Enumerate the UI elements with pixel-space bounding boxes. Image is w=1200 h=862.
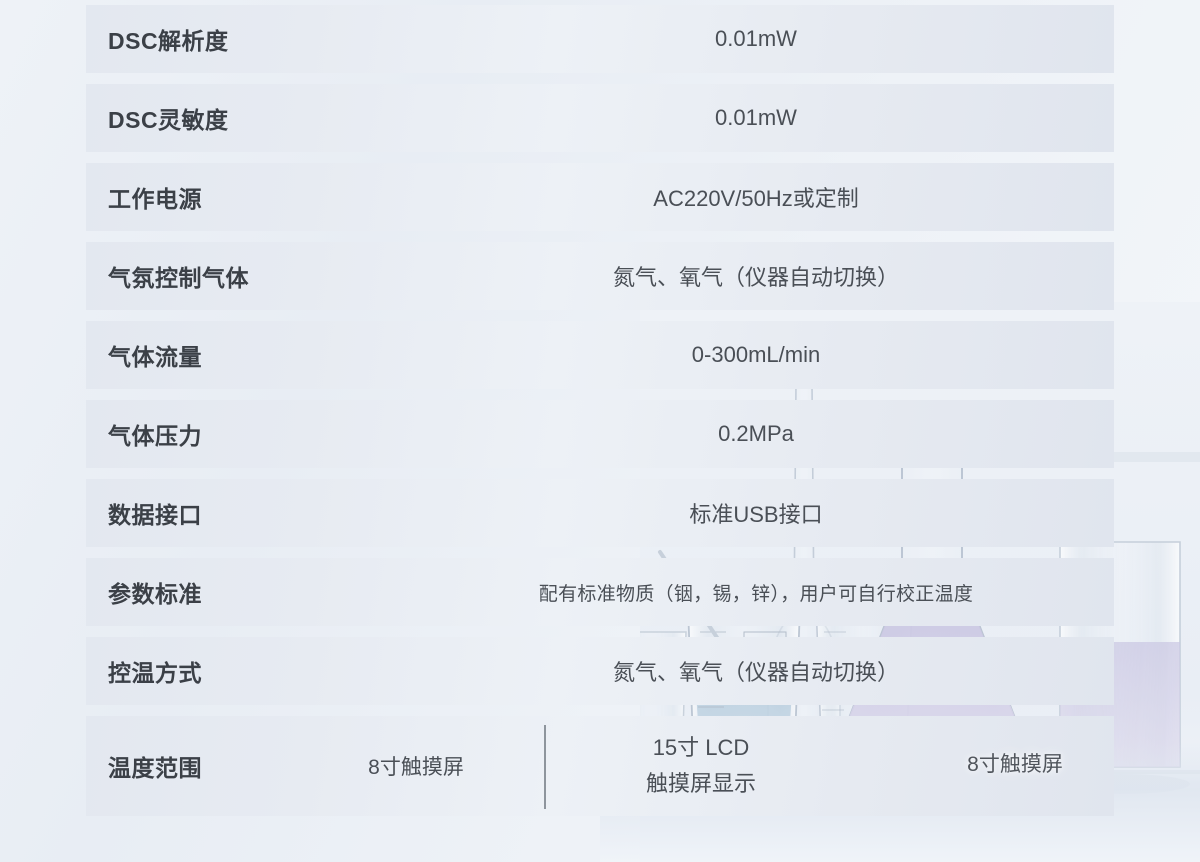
spec-label: 气体压力	[108, 417, 202, 451]
spec-label: DSC解析度	[108, 22, 229, 56]
spec-label: 气体流量	[108, 338, 202, 372]
display-option-line1: 15寸 LCD	[653, 735, 750, 760]
spec-value: 0.01mW	[386, 105, 1126, 131]
spec-label: 气氛控制气体	[108, 259, 249, 293]
spec-label: 参数标准	[108, 575, 202, 609]
vertical-divider	[544, 725, 546, 809]
spec-label: 控温方式	[108, 654, 202, 688]
table-row: 参数标准 配有标准物质（铟，锡，锌），用户可自行校正温度	[86, 558, 1114, 626]
table-row: 气体压力 0.2MPa	[86, 400, 1114, 468]
spec-value: 0-300mL/min	[386, 342, 1126, 368]
spec-sheet-page: DSC解析度 0.01mW DSC灵敏度 0.01mW 工作电源 AC220V/…	[0, 0, 1200, 862]
display-option-line2: 触摸屏显示	[586, 766, 816, 802]
spec-label: 工作电源	[108, 180, 202, 214]
table-row: 气氛控制气体 氮气、氧气（仪器自动切换）	[86, 242, 1114, 310]
table-row: 气体流量 0-300mL/min	[86, 321, 1114, 389]
spec-value: 配有标准物质（铟，锡，锌），用户可自行校正温度	[386, 579, 1126, 606]
spec-value: 0.2MPa	[386, 421, 1126, 447]
spec-label: 数据接口	[108, 496, 202, 530]
table-row: 工作电源 AC220V/50Hz或定制	[86, 163, 1114, 231]
spec-value: 氮气、氧气（仪器自动切换）	[386, 260, 1126, 292]
table-row: DSC灵敏度 0.01mW	[86, 84, 1114, 152]
specification-table: DSC解析度 0.01mW DSC灵敏度 0.01mW 工作电源 AC220V/…	[86, 5, 1114, 816]
spec-value: AC220V/50Hz或定制	[386, 181, 1126, 213]
display-option-8-inch-right: 8寸触摸屏	[935, 748, 1095, 778]
spec-value: 0.01mW	[386, 26, 1126, 52]
display-option-8-inch-left: 8寸触摸屏	[306, 751, 526, 781]
table-row: 控温方式 氮气、氧气（仪器自动切换）	[86, 637, 1114, 705]
spec-value: 氮气、氧气（仪器自动切换）	[386, 655, 1126, 687]
spec-label: DSC灵敏度	[108, 101, 229, 135]
table-row: DSC解析度 0.01mW	[86, 5, 1114, 73]
display-option-15-inch-lcd: 15寸 LCD 触摸屏显示	[586, 730, 816, 802]
spec-label: 温度范围	[108, 749, 202, 783]
table-row: 数据接口 标准USB接口	[86, 479, 1114, 547]
spec-value: 标准USB接口	[386, 497, 1126, 529]
